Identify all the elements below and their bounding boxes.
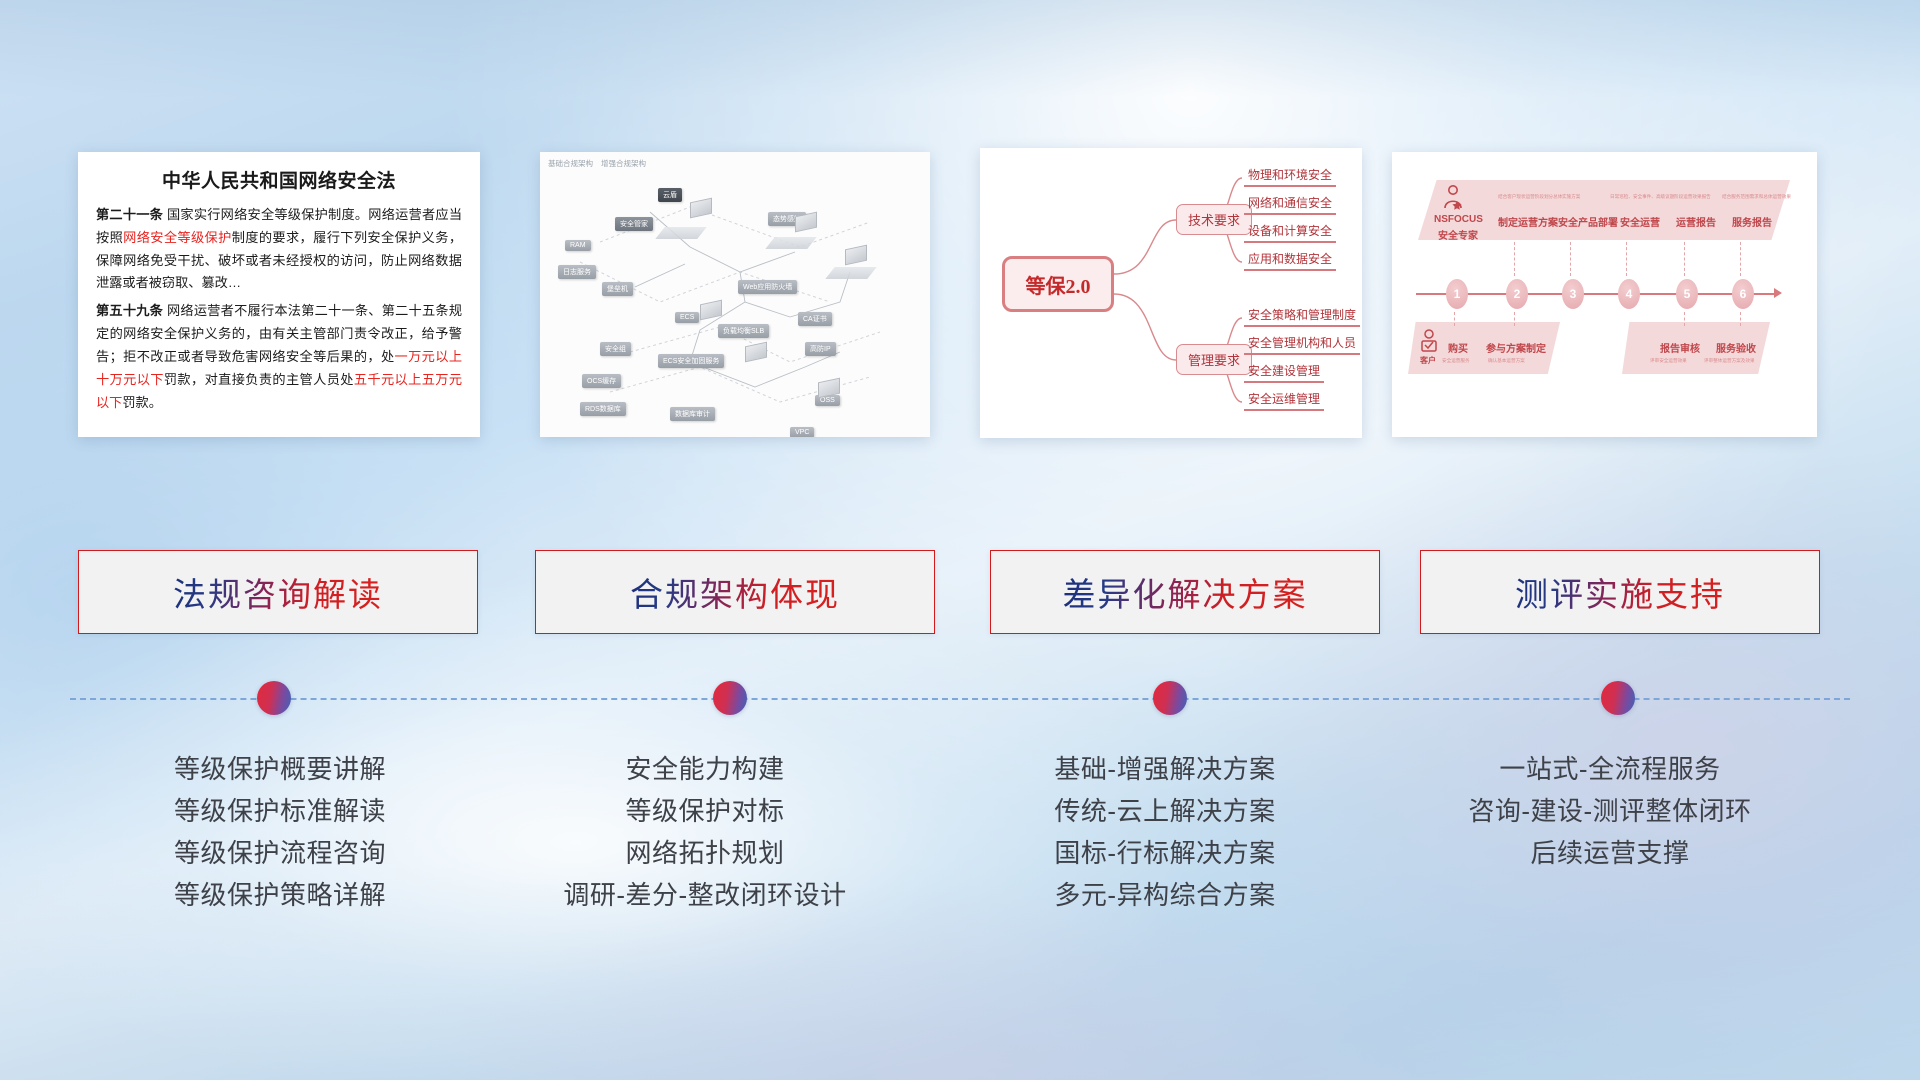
list-item: 等级保护对标 — [470, 790, 940, 832]
nsfocus-connector-b2 — [1514, 312, 1515, 326]
card-nsfocus-service-timeline: NSFOCUS 安全专家 客户 结合客户现状运营阶段划分总体 制定运营方案 实施… — [1392, 152, 1817, 437]
section-title-box-3[interactable]: 差异化解决方案 — [990, 550, 1380, 634]
mindmap-root-node: 等保2.0 — [1002, 256, 1114, 312]
nsfocus-bottom-sub-3: 评审安全运营效果 — [1650, 358, 1687, 364]
nsfocus-step-marker-1: 1 — [1446, 279, 1468, 309]
list-item: 安全能力构建 — [470, 748, 940, 790]
mindmap-leaf-policy-system: 安全策略和管理制度 — [1244, 306, 1360, 327]
nsfocus-top-title-5: 服务报告 — [1732, 214, 1772, 229]
mindmap-leaf-network-comm: 网络和通信安全 — [1244, 194, 1336, 215]
mindmap-leaf-app-data: 应用和数据安全 — [1244, 250, 1336, 271]
section-title-box-1[interactable]: 法规咨询解读 — [78, 550, 478, 634]
list-item: 咨询-建设-测评整体闭环 — [1390, 790, 1830, 832]
timeline-dashed-line — [70, 698, 1850, 700]
section-title-label-2: 合规架构体现 — [630, 568, 840, 616]
card-cybersecurity-law: 中华人民共和国网络安全法 第二十一条 国家实行网络安全等级保护制度。网络运营者应… — [78, 152, 480, 437]
feature-list-2: 安全能力构建 等级保护对标 网络拓扑规划 调研-差分-整改闭环设计 — [470, 748, 940, 916]
arch-node-ecs-hardening: ECS安全加固服务 — [658, 354, 724, 368]
nsfocus-connector-b5 — [1684, 312, 1685, 326]
mindmap: 等保2.0 技术要求 管理要求 物理和环境安全 网络和通信安全 设备和计算安全 … — [980, 148, 1362, 438]
nsfocus-bottom-title-3: 报告审核 — [1660, 340, 1700, 355]
feature-list-1: 等级保护概要讲解 等级保护标准解读 等级保护流程咨询 等级保护策略详解 — [60, 748, 500, 916]
feature-list-4: 一站式-全流程服务 咨询-建设-测评整体闭环 后续运营支撑 — [1390, 748, 1830, 874]
nsfocus-connector-b1 — [1454, 312, 1455, 326]
nsfocus-top-title-4: 运营报告 — [1676, 214, 1716, 229]
nsfocus-top-sub-3: 日常巡检、安全事件、高级议题 — [1610, 194, 1674, 200]
feature-list-3: 基础-增强解决方案 传统-云上解决方案 国标-行标解决方案 多元-异构综合方案 — [930, 748, 1400, 916]
timeline-marker-2[interactable] — [713, 681, 747, 715]
arch-node-security-group: 安全组 — [600, 342, 631, 356]
nsfocus-connector-b6 — [1740, 312, 1741, 326]
law-article-21-highlight: 网络安全等级保护 — [123, 230, 232, 245]
section-title-box-2[interactable]: 合规架构体现 — [535, 550, 935, 634]
nsfocus-expert-name: NSFOCUS — [1434, 214, 1483, 225]
nsfocus-connector-2 — [1514, 242, 1515, 276]
list-item: 等级保护标准解读 — [60, 790, 500, 832]
security-expert-icon — [1440, 184, 1466, 212]
list-item: 传统-云上解决方案 — [930, 790, 1400, 832]
law-document: 中华人民共和国网络安全法 第二十一条 国家实行网络安全等级保护制度。网络运营者应… — [78, 152, 480, 429]
mindmap-leaf-ops-mgmt: 安全运维管理 — [1244, 390, 1324, 411]
card-compliance-architecture: 基础合规架构 增强合规架构 — [540, 152, 930, 437]
architecture-connectors — [540, 152, 930, 437]
arch-node-ram: RAM — [565, 240, 591, 251]
section-title-label-4: 测评实施支持 — [1515, 568, 1725, 616]
section-title-box-4[interactable]: 测评实施支持 — [1420, 550, 1820, 634]
list-item: 调研-差分-整改闭环设计 — [470, 874, 940, 916]
nsfocus-connector-6 — [1740, 242, 1741, 276]
arch-node-ecs: ECS — [675, 312, 699, 323]
nsfocus-connector-4 — [1626, 242, 1627, 276]
law-title: 中华人民共和国网络安全法 — [96, 166, 462, 193]
arch-node-waf: Web应用防火墙 — [738, 280, 797, 294]
list-item: 网络拓扑规划 — [470, 832, 940, 874]
arch-node-anti-ddos: 高防IP — [805, 342, 836, 356]
law-article-59: 第五十九条 网络运营者不履行本法第二十一条、第二十五条规定的网络安全保护义务的，… — [96, 300, 462, 414]
nsfocus-bottom-title-4: 服务验收 — [1716, 340, 1756, 355]
law-article-21: 第二十一条 国家实行网络安全等级保护制度。网络运营者应当按照网络安全等级保护制度… — [96, 204, 462, 295]
page-content: 中华人民共和国网络安全法 第二十一条 国家实行网络安全等级保护制度。网络运营者应… — [0, 0, 1920, 1080]
nsfocus-step-marker-5: 5 — [1676, 279, 1698, 309]
arch-node-ocs-cache: OCS缓存 — [582, 374, 621, 388]
arch-node-slb: 负载均衡SLB — [718, 324, 769, 338]
mindmap-branch-management: 管理要求 — [1176, 344, 1252, 375]
section-title-label-3: 差异化解决方案 — [1063, 568, 1308, 616]
law-article-21-label: 第二十一条 — [96, 207, 163, 222]
mindmap-leaf-build-mgmt: 安全建设管理 — [1244, 362, 1324, 383]
nsfocus-customer-role: 客户 — [1420, 355, 1436, 366]
nsfocus-top-title-1: 制定运营方案 — [1498, 214, 1558, 229]
nsfocus-top-title-3: 安全运营 — [1620, 214, 1660, 229]
timeline-marker-3[interactable] — [1153, 681, 1187, 715]
nsfocus-top-sub-2: 实施方案 — [1562, 194, 1580, 200]
list-item: 等级保护流程咨询 — [60, 832, 500, 874]
arch-node-db-audit: 数据库审计 — [670, 407, 715, 421]
timeline-marker-4[interactable] — [1601, 681, 1635, 715]
mindmap-leaf-device-compute: 设备和计算安全 — [1244, 222, 1336, 243]
nsfocus-bottom-title-1: 购买 — [1448, 340, 1468, 355]
timeline-marker-1[interactable] — [257, 681, 291, 715]
nsfocus-bottom-sub-2: 确认基本运营方案 — [1488, 358, 1525, 364]
nsfocus-step-marker-2: 2 — [1506, 279, 1528, 309]
nsfocus-connector-3 — [1570, 242, 1571, 276]
nsfocus-axis-line — [1416, 293, 1776, 295]
nsfocus-step-marker-3: 3 — [1562, 279, 1584, 309]
mindmap-leaf-physical-env: 物理和环境安全 — [1244, 166, 1336, 187]
law-article-59-text-c: 罚款。 — [122, 395, 162, 410]
customer-icon — [1418, 328, 1440, 354]
arch-node-security-butler: 安全管家 — [615, 217, 653, 231]
nsfocus-timeline: NSFOCUS 安全专家 客户 结合客户现状运营阶段划分总体 制定运营方案 实施… — [1392, 152, 1817, 437]
card-mindmap-dengbao: 等保2.0 技术要求 管理要求 物理和环境安全 网络和通信安全 设备和计算安全 … — [980, 148, 1362, 438]
mindmap-leaf-org-personnel: 安全管理机构和人员 — [1244, 334, 1360, 355]
nsfocus-top-title-2: 安全产品部署 — [1558, 214, 1618, 229]
nsfocus-step-marker-6: 6 — [1732, 279, 1754, 309]
list-item: 多元-异构综合方案 — [930, 874, 1400, 916]
arch-node-cloud-shield: 云盾 — [658, 188, 682, 202]
list-item: 一站式-全流程服务 — [1390, 748, 1830, 790]
list-item: 等级保护策略详解 — [60, 874, 500, 916]
law-article-59-text-b: 罚款，对直接负责的主管人员处 — [164, 372, 354, 387]
arch-node-rds: RDS数据库 — [580, 402, 626, 416]
arch-node-ca-cert: CA证书 — [798, 312, 832, 326]
list-item: 后续运营支撑 — [1390, 832, 1830, 874]
list-item: 基础-增强解决方案 — [930, 748, 1400, 790]
nsfocus-top-sub-5: 结合服务范围需求和总体运营效果 — [1722, 194, 1791, 200]
list-item: 等级保护概要讲解 — [60, 748, 500, 790]
section-title-label-1: 法规咨询解读 — [173, 568, 383, 616]
nsfocus-step-marker-4: 4 — [1618, 279, 1640, 309]
arch-node-log-service: 日志服务 — [558, 265, 596, 279]
nsfocus-bottom-title-2: 参与方案制定 — [1486, 340, 1546, 355]
nsfocus-top-sub-1: 结合客户现状运营阶段划分总体 — [1498, 194, 1562, 200]
arch-node-vpc: VPC — [790, 427, 814, 437]
nsfocus-top-sub-4: 阶段运营效果报告 — [1674, 194, 1711, 200]
nsfocus-connector-5 — [1684, 242, 1685, 276]
architecture-diagram: 基础合规架构 增强合规架构 — [540, 152, 930, 437]
nsfocus-axis-arrow — [1774, 288, 1782, 298]
nsfocus-bottom-sub-1: 安全运营服务 — [1442, 358, 1470, 364]
nsfocus-bottom-sub-4: 评审整体运营方案及效果 — [1704, 358, 1755, 364]
nsfocus-expert-role: 安全专家 — [1438, 227, 1478, 242]
list-item: 国标-行标解决方案 — [930, 832, 1400, 874]
arch-node-bastion: 堡垒机 — [602, 282, 633, 296]
mindmap-branch-technical: 技术要求 — [1176, 204, 1252, 235]
law-article-59-label: 第五十九条 — [96, 303, 163, 318]
